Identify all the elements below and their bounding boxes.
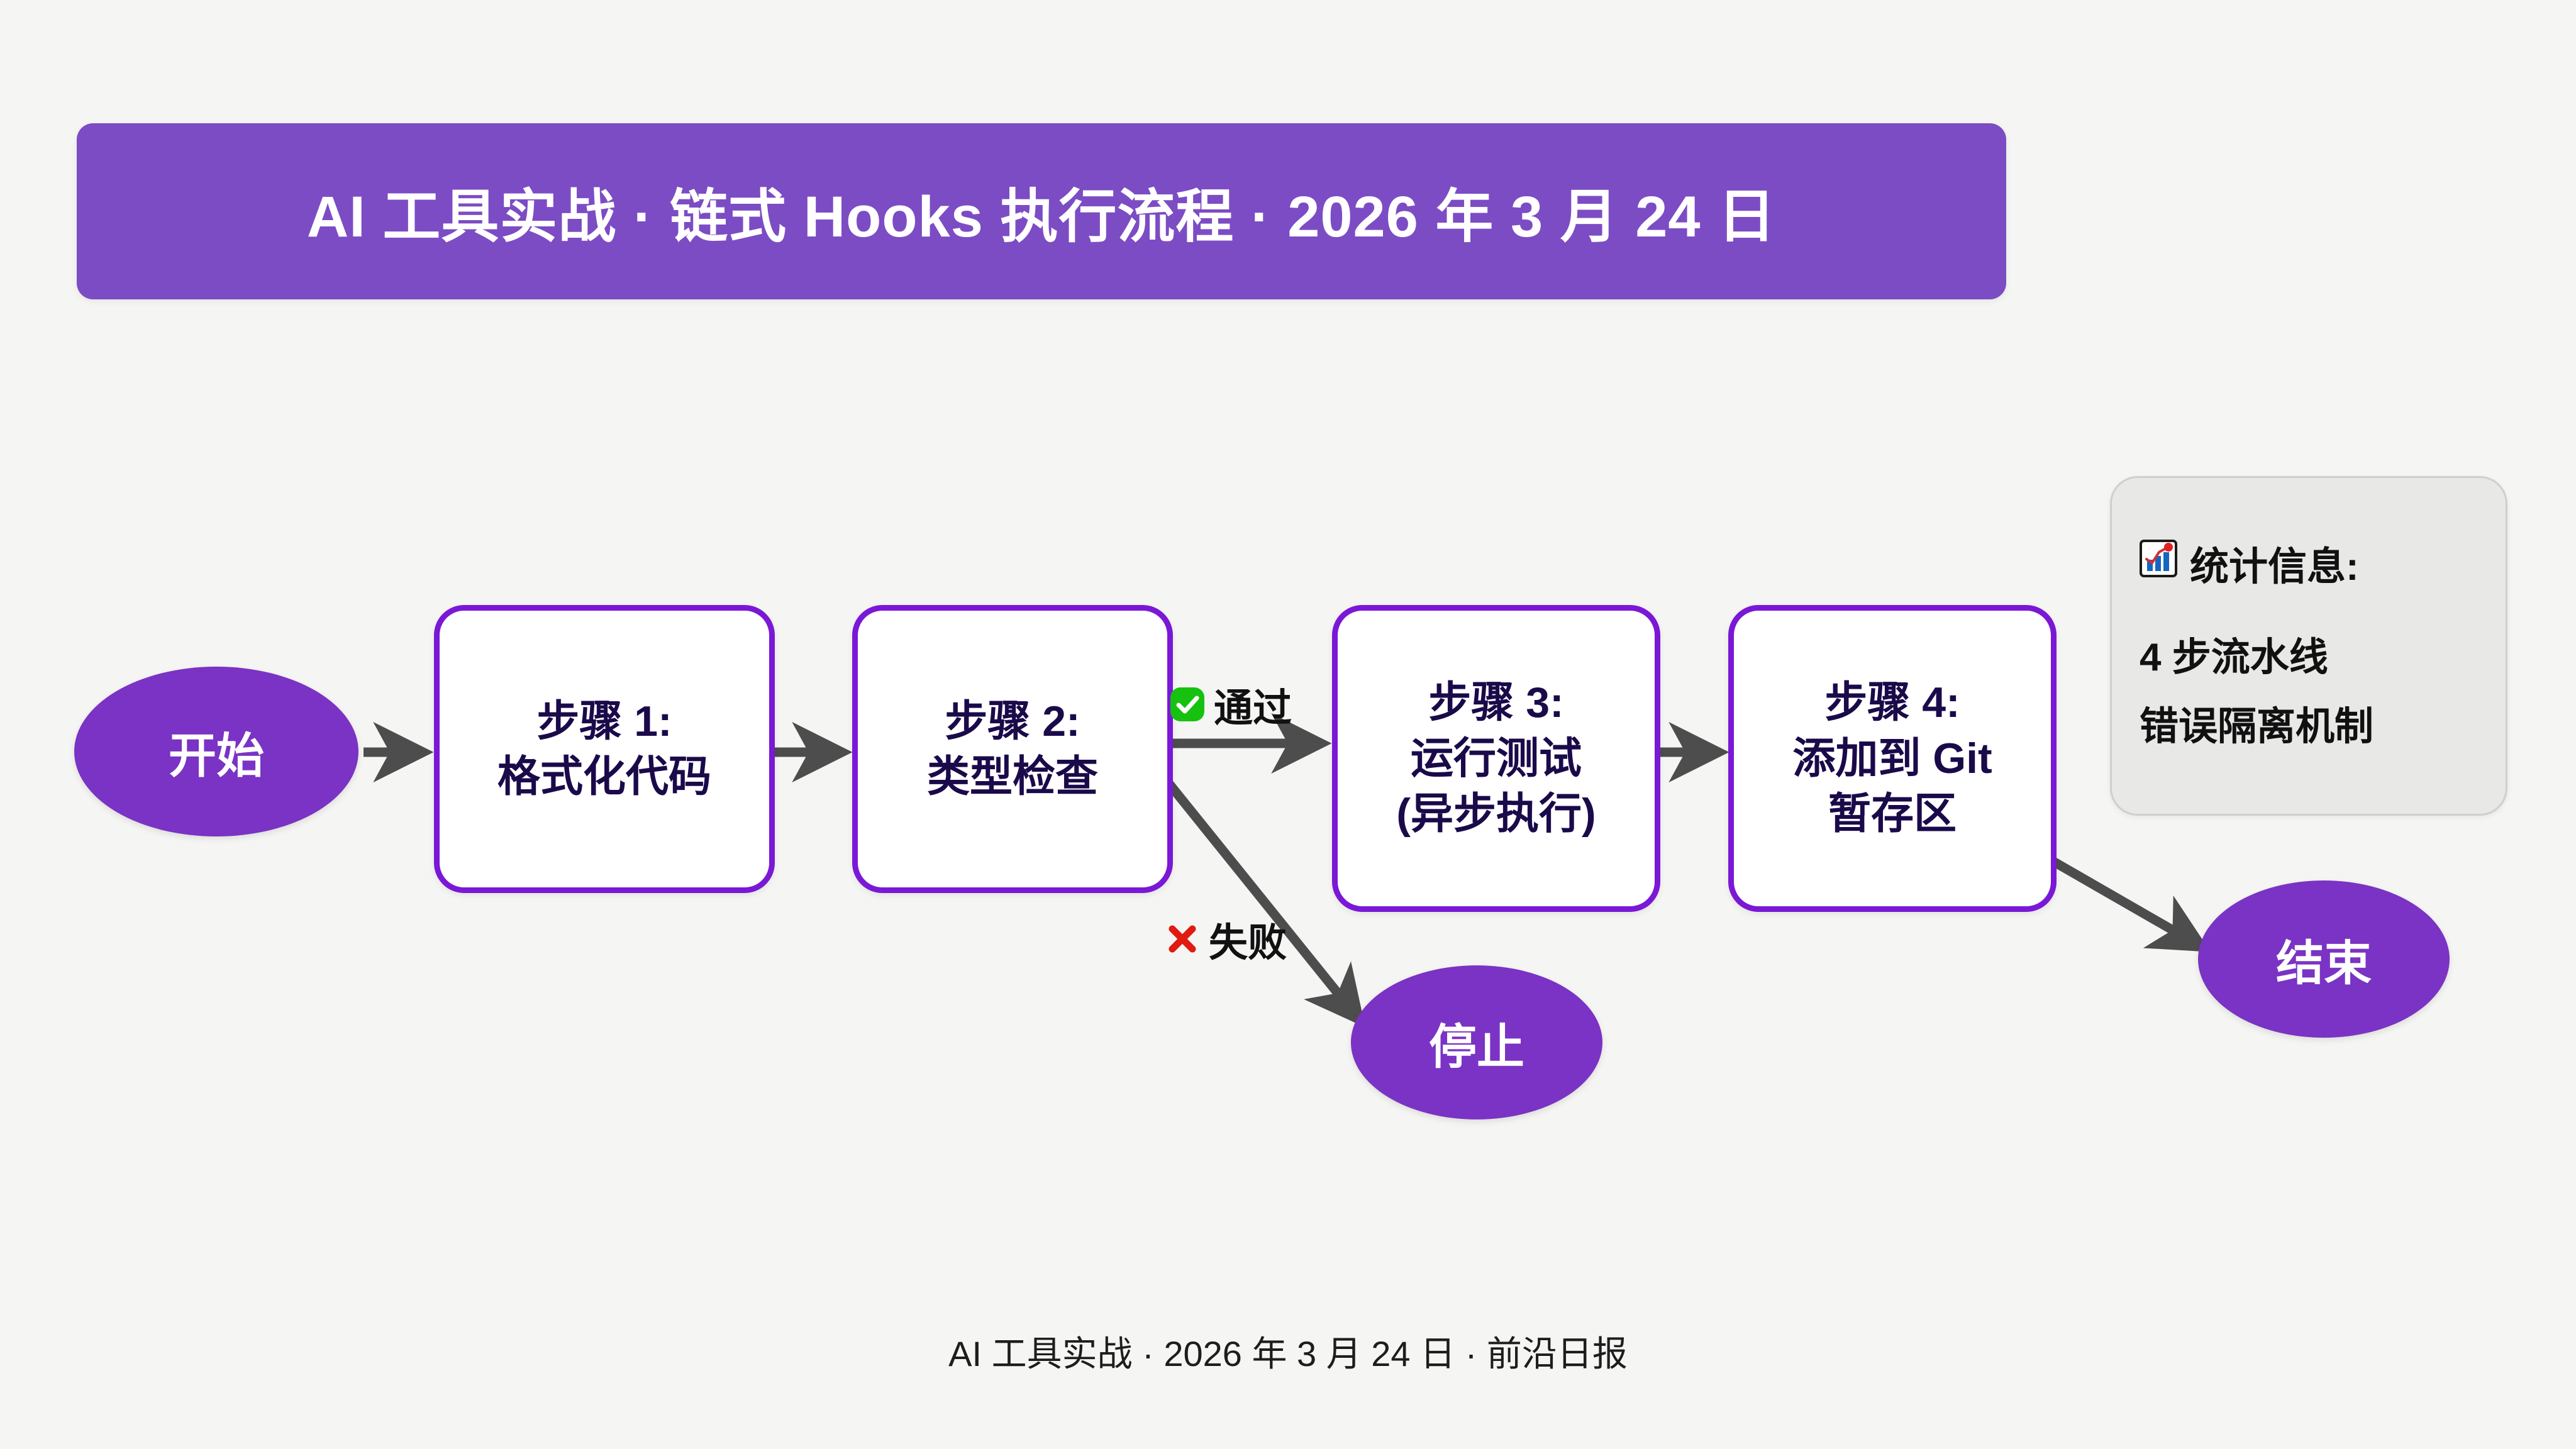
node-start-label: 开始 [169, 717, 264, 786]
step-1-line-1: 步骤 1: [536, 694, 672, 749]
bar-chart-icon [2140, 540, 2177, 587]
check-mark-button-icon [1170, 687, 1205, 722]
node-step-3[interactable]: 步骤 3: 运行测试 (异步执行) [1332, 605, 1660, 912]
branch-label-fail: 失败 [1165, 911, 1287, 967]
node-step-1[interactable]: 步骤 1: 格式化代码 [434, 605, 775, 893]
step-2-line-1: 步骤 2: [945, 694, 1080, 749]
node-end-label: 结束 [2276, 924, 2372, 994]
footer-caption: AI 工具实战 · 2026 年 3 月 24 日 · 前沿日报 [0, 1326, 2576, 1377]
step-4-line-1: 步骤 4: [1824, 675, 1960, 730]
cross-mark-icon [1165, 921, 1200, 957]
stats-line-1: 4 步流水线 [2140, 625, 2478, 682]
step-4-line-2: 添加到 Git [1792, 731, 1992, 786]
branch-label-pass-text: 通过 [1214, 676, 1292, 733]
stats-panel-title: 统计信息: [2140, 535, 2478, 591]
edge-step4-end [2043, 855, 2201, 947]
step-1-line-2: 格式化代码 [497, 749, 711, 804]
step-3-line-2: 运行测试 [1411, 731, 1582, 786]
edge-step2-stop [1169, 783, 1358, 1019]
node-start[interactable]: 开始 [74, 667, 358, 836]
stats-title-text: 统计信息: [2190, 535, 2359, 591]
branch-label-fail-text: 失败 [1209, 911, 1287, 967]
step-3-line-1: 步骤 3: [1428, 675, 1563, 730]
diagram-canvas: AI 工具实战 · 链式 Hooks 执行流程 · 2026 年 3 月 24 … [0, 0, 2576, 1449]
node-stop[interactable]: 停止 [1351, 965, 1602, 1119]
step-4-line-3: 暂存区 [1828, 786, 1957, 841]
node-step-2[interactable]: 步骤 2: 类型检查 [852, 605, 1173, 893]
step-3-line-3: (异步执行) [1396, 786, 1596, 841]
node-step-4[interactable]: 步骤 4: 添加到 Git 暂存区 [1728, 605, 2057, 912]
stats-panel: 统计信息: 4 步流水线 错误隔离机制 [2110, 476, 2507, 816]
node-end[interactable]: 结束 [2198, 880, 2450, 1038]
stats-line-2: 错误隔离机制 [2140, 694, 2478, 751]
branch-label-pass: 通过 [1170, 676, 1292, 733]
node-stop-label: 停止 [1429, 1008, 1524, 1077]
step-2-line-2: 类型检查 [927, 749, 1098, 804]
